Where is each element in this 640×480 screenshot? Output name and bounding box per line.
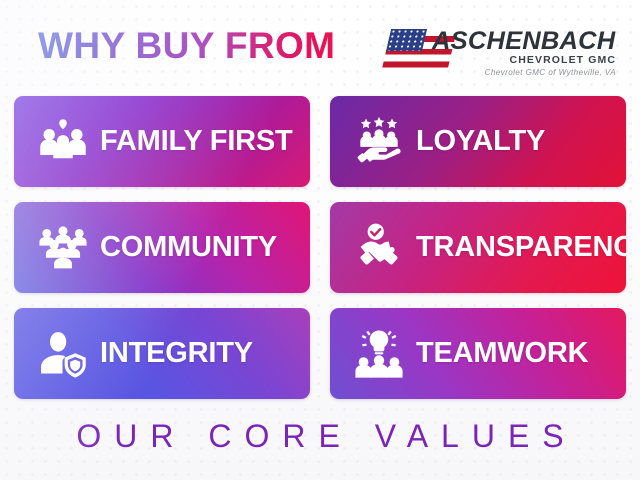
value-card-teamwork[interactable]: TEAMWORK <box>330 308 626 399</box>
core-values-caption: OUR CORE VALUES <box>63 418 576 455</box>
core-values-grid: FAMILY FIRST LOYALTY <box>14 96 626 402</box>
value-card-label: TRANSPARENCY <box>416 233 626 262</box>
logo-subtitle: CHEVROLET GMC <box>510 54 616 66</box>
value-card-label: INTEGRITY <box>100 339 253 368</box>
value-card-family-first[interactable]: FAMILY FIRST <box>14 96 310 187</box>
logo-tagline: Chevrolet GMC of Wytheville, VA <box>485 68 616 77</box>
header: WHY BUY FROM ASCHENBACH CHEVROLET GMC Ch… <box>0 0 640 92</box>
value-card-loyalty[interactable]: LOYALTY <box>330 96 626 187</box>
hand-people-stars-icon <box>352 115 406 169</box>
value-card-label: COMMUNITY <box>100 233 277 262</box>
dealership-logo[interactable]: ASCHENBACH CHEVROLET GMC Chevrolet GMC o… <box>386 27 618 83</box>
family-heart-icon <box>36 115 90 169</box>
value-card-label: LOYALTY <box>416 127 545 156</box>
footer: OUR CORE VALUES <box>0 418 640 455</box>
slide-canvas: WHY BUY FROM ASCHENBACH CHEVROLET GMC Ch… <box>0 0 640 480</box>
person-shield-icon <box>36 327 90 381</box>
people-group-icon <box>36 221 90 275</box>
handshake-check-icon <box>352 221 406 275</box>
value-card-label: TEAMWORK <box>416 339 588 368</box>
flag-canton-stars <box>386 29 427 51</box>
value-card-integrity[interactable]: INTEGRITY <box>14 308 310 399</box>
team-lightbulb-icon <box>352 327 406 381</box>
value-card-community[interactable]: COMMUNITY <box>14 202 310 293</box>
value-card-label: FAMILY FIRST <box>100 127 293 156</box>
page-title: WHY BUY FROM <box>38 24 335 68</box>
logo-brand-name: ASCHENBACH <box>432 27 615 56</box>
value-card-transparency[interactable]: TRANSPARENCY <box>330 202 626 293</box>
